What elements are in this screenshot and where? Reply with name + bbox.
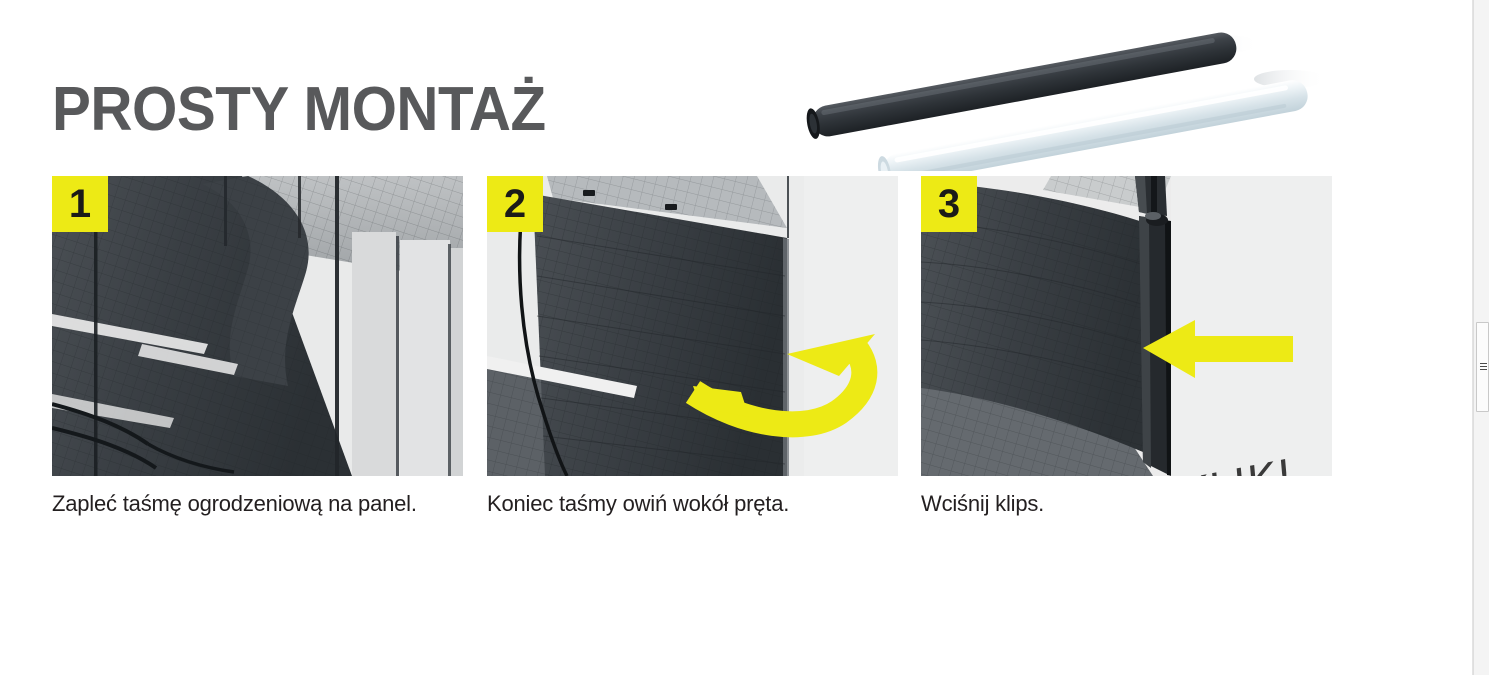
page-root: PROSTY MONTAŻ (0, 0, 1489, 675)
product-rolls-photo (790, 6, 1360, 171)
step-number-badge-1: 1 (52, 176, 108, 232)
scrollbar-thumb[interactable] (1476, 322, 1489, 412)
scrollbar-grip-icon (1480, 363, 1487, 372)
step-number-badge-3: 3 (921, 176, 977, 232)
step-panel-1[interactable]: 1 (52, 176, 463, 476)
step-caption-1: Zapleć taśmę ogrodzeniową na panel. (52, 489, 417, 519)
step-number-badge-2: 2 (487, 176, 543, 232)
clip-press-photo (921, 176, 1332, 476)
step-caption-2: Koniec taśmy owiń wokół pręta. (487, 489, 789, 519)
tape-wrap-photo (487, 176, 898, 476)
vertical-scrollbar[interactable] (1473, 0, 1489, 675)
step-panel-3[interactable]: KLIK! 3 (921, 176, 1332, 476)
product-rolls-svg (790, 6, 1360, 171)
step-caption-3: Wciśnij klips. (921, 489, 1044, 519)
step-panel-2[interactable]: 2 (487, 176, 898, 476)
fence-weaving-photo (52, 176, 463, 476)
page-title: PROSTY MONTAŻ (52, 78, 546, 142)
